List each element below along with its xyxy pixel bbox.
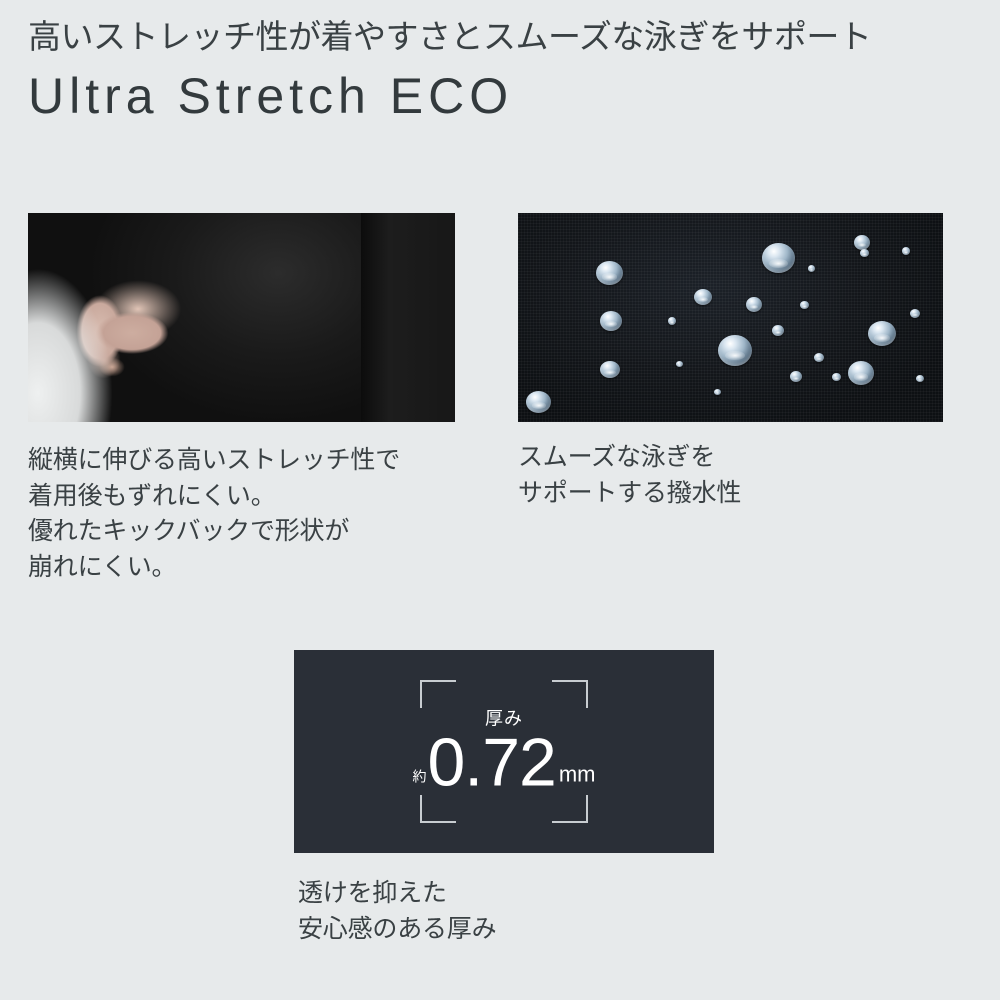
caption-thickness: 透けを抑えた 安心感のある厚み [298,875,718,948]
water-droplet [596,261,623,285]
thickness-approx-prefix: 約 [412,770,426,794]
water-droplet [600,361,620,378]
water-droplet [800,301,809,309]
page-header: 高いストレッチ性が着やすさとスムーズな泳ぎをサポート Ultra Stretch… [28,18,972,124]
caption-stretch: 縦横に伸びる高いストレッチ性で 着用後もずれにくい。 優れたキックバックで形状が… [28,443,498,585]
water-droplet [902,247,910,255]
water-droplet [854,235,870,250]
bracket-top-left-icon [420,680,456,708]
water-droplets-on-dark-fabric-photo [518,213,943,422]
feature-stretch [28,213,455,422]
water-droplet [746,297,762,312]
hand-stretching-black-fabric-photo [28,213,455,422]
water-droplet [526,391,551,413]
page-title: Ultra Stretch ECO [28,69,972,124]
feature-water-repellency [518,213,943,422]
water-droplet [714,389,721,395]
water-droplet [848,361,874,385]
thickness-unit: mm [559,764,596,794]
lead-headline: 高いストレッチ性が着やすさとスムーズな泳ぎをサポート [28,18,972,57]
product-feature-page: 高いストレッチ性が着やすさとスムーズな泳ぎをサポート Ultra Stretch… [0,0,1000,1000]
water-droplet [790,371,802,382]
water-droplet [600,311,622,331]
water-droplet [910,309,920,318]
thickness-block: 厚み 約 0.72 mm [294,650,714,853]
water-droplet [832,373,841,381]
water-droplet [762,243,795,273]
water-droplet [668,317,676,325]
water-droplet [676,361,683,367]
water-droplet [814,353,824,362]
water-droplet [772,325,784,336]
thickness-value: 0.72 [427,731,555,794]
thickness-value-row: 約 0.72 mm [294,731,714,794]
thickness-readout: 厚み 約 0.72 mm [294,709,714,794]
water-droplet [916,375,924,382]
water-droplet [694,289,712,305]
water-droplet [718,335,752,366]
water-droplet [808,265,815,272]
caption-water-repellency: スムーズな泳ぎを サポートする撥水性 [518,440,948,511]
bracket-bottom-right-icon [552,795,588,823]
water-droplet [860,249,869,257]
fabric-thickness-panel: 厚み 約 0.72 mm [294,650,714,853]
bracket-top-right-icon [552,680,588,708]
water-droplet [868,321,896,346]
fabric-weave-texture [518,213,943,422]
